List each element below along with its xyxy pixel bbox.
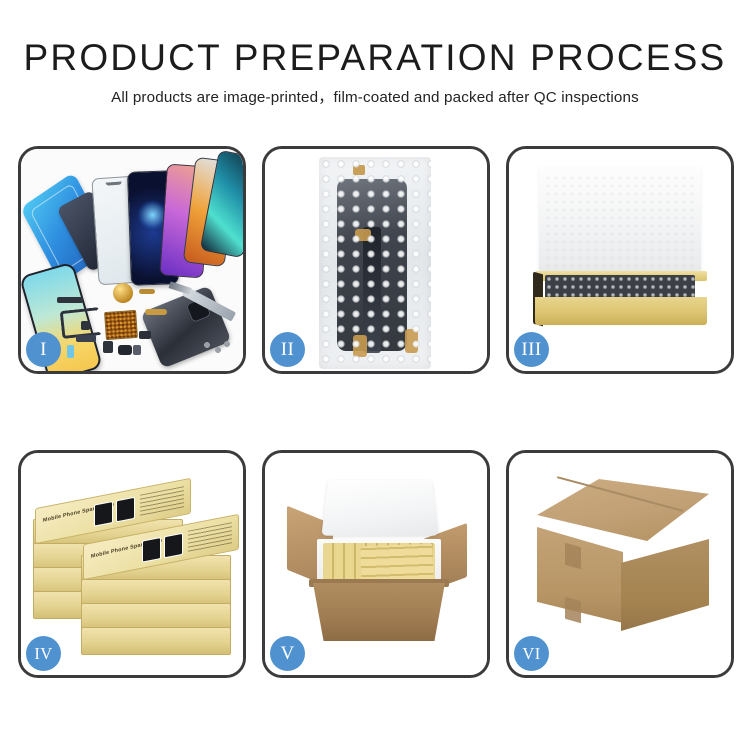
small-part <box>145 309 167 315</box>
process-step-panel-1: I <box>18 146 246 374</box>
box-window-phone <box>142 537 161 563</box>
carton-tape <box>565 597 581 624</box>
poster-header: PRODUCT PREPARATION PROCESS All products… <box>0 36 750 108</box>
box-window-phone <box>164 533 183 559</box>
bubble-texture <box>319 157 431 369</box>
process-step-panel-4: Mobile Phone Spare Parts Mobile Phone Sp… <box>18 450 246 678</box>
screws-group <box>203 341 231 357</box>
product-preparation-poster: PRODUCT PREPARATION PROCESS All products… <box>0 0 750 750</box>
step-badge-1: I <box>26 332 61 367</box>
small-part <box>118 345 132 355</box>
stacked-box <box>81 627 231 655</box>
box-stack: Mobile Phone Spare Parts Mobile Phone Sp… <box>29 467 241 667</box>
carton-tape <box>565 543 581 570</box>
small-part <box>103 341 113 353</box>
page-title: PRODUCT PREPARATION PROCESS <box>0 36 750 80</box>
white-foam-sheet <box>539 167 701 279</box>
carton-top-face <box>537 479 709 541</box>
process-step-panel-2: II <box>262 146 490 374</box>
step-badge-5: V <box>270 636 305 671</box>
small-part <box>133 345 141 355</box>
chip-array-part <box>104 310 138 340</box>
bubble-wrap-filling <box>545 275 695 299</box>
small-part <box>76 335 96 342</box>
box-window-phone <box>94 501 113 527</box>
process-step-panel-5: V <box>262 450 490 678</box>
small-part <box>139 331 151 339</box>
box-window-phone <box>116 497 135 523</box>
yellow-box-front <box>535 297 707 325</box>
bubble-wrap-bag <box>319 157 431 369</box>
process-step-panel-3: III <box>506 146 734 374</box>
step-badge-2: II <box>270 332 305 367</box>
step-badge-6: VI <box>514 636 549 671</box>
carton-front <box>313 583 445 641</box>
carton-right-face <box>621 539 709 631</box>
box-spec-lines <box>140 486 184 517</box>
small-part <box>67 345 74 358</box>
styrofoam-lid <box>321 480 438 536</box>
step-badge-4: IV <box>26 636 61 671</box>
small-part <box>81 321 90 330</box>
gold-coil-part <box>113 283 133 303</box>
small-part <box>57 297 83 303</box>
process-step-grid: I II <box>18 146 734 678</box>
step-badge-3: III <box>514 332 549 367</box>
small-part <box>139 289 155 294</box>
process-step-panel-6: VI <box>506 450 734 678</box>
page-subtitle: All products are image-printed，film-coat… <box>0 88 750 108</box>
box-spec-lines <box>188 522 232 553</box>
